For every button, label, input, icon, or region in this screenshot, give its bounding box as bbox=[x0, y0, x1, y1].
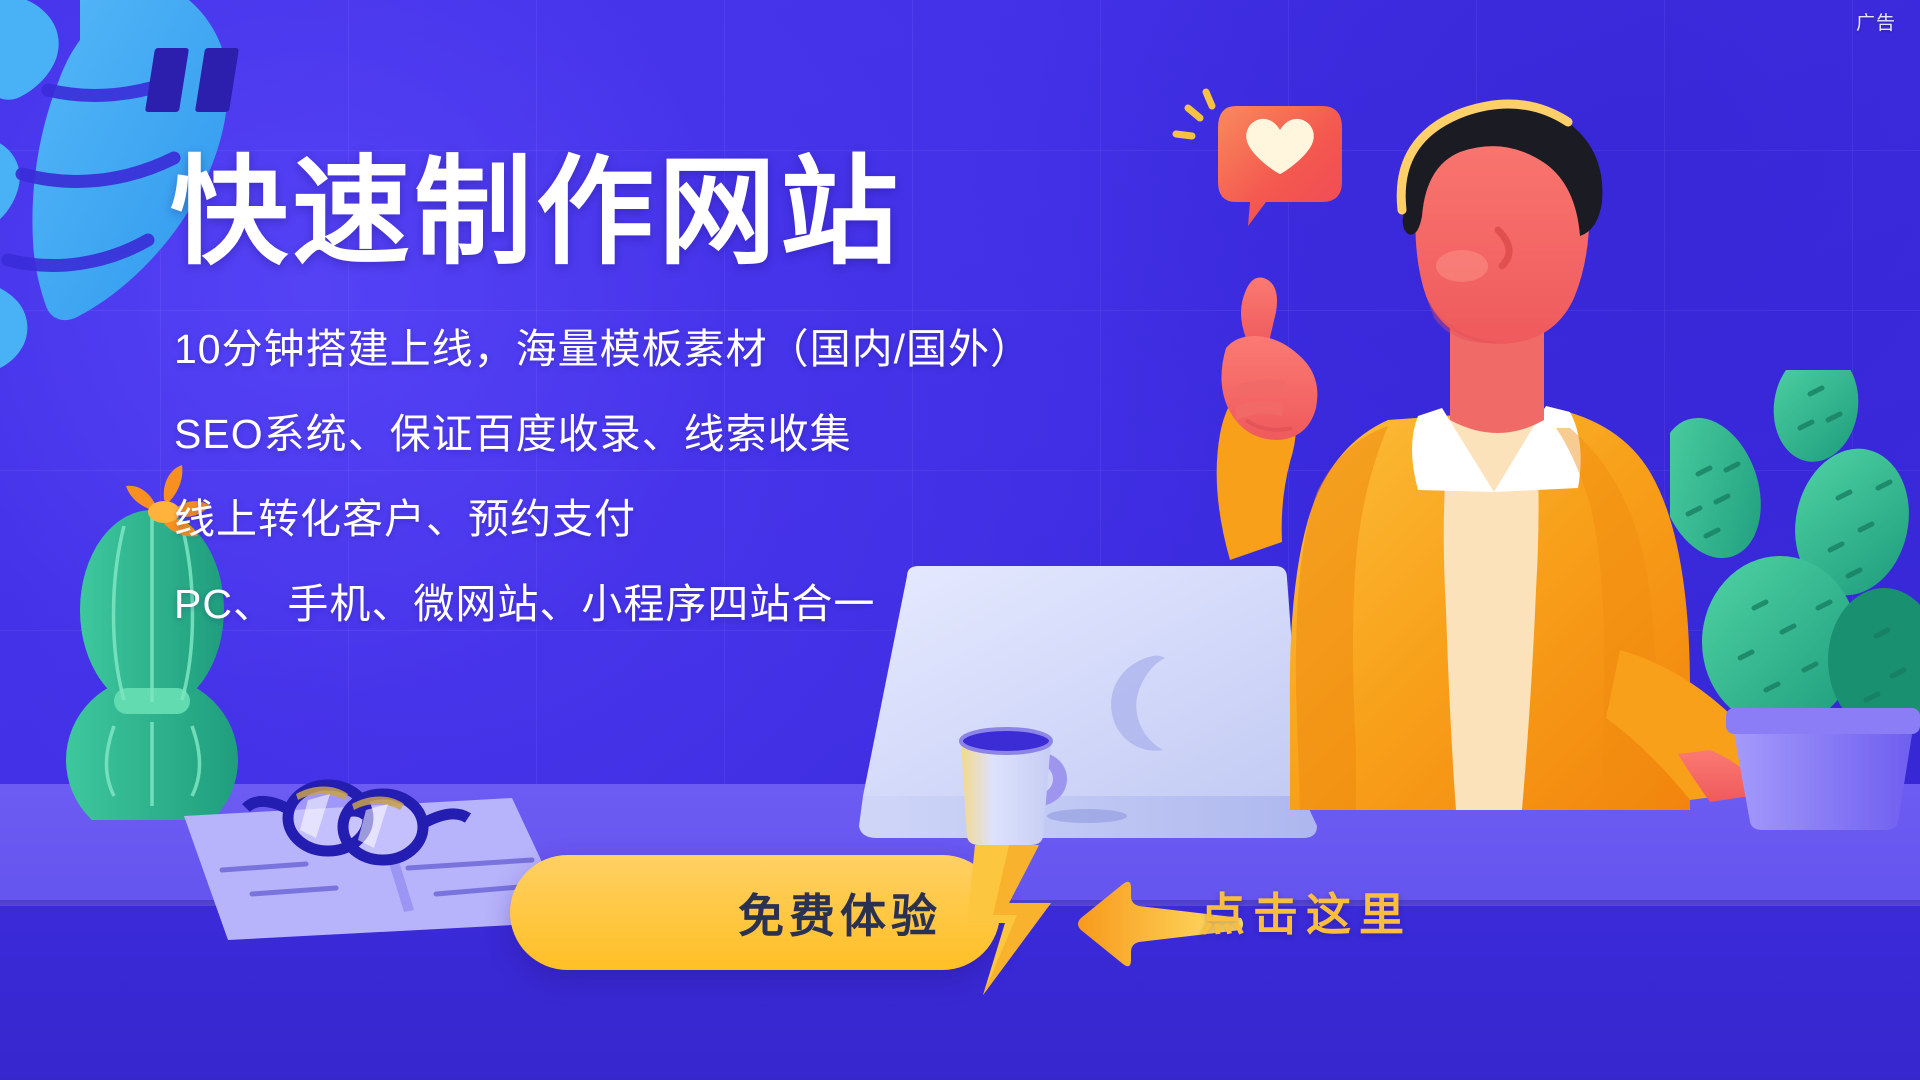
coffee-mug-icon bbox=[945, 715, 1080, 845]
ad-label: 广告 bbox=[1856, 8, 1896, 35]
pointer-label: 点击这里 bbox=[1200, 878, 1412, 943]
quote-mark-icon bbox=[150, 48, 246, 120]
free-trial-button-label: 免费体验 bbox=[568, 880, 942, 946]
free-trial-button[interactable]: 免费体验 bbox=[510, 855, 1000, 970]
copy-block: 快速制作网站 10分钟搭建上线，海量模板素材（国内/国外） SEO系统、保证百度… bbox=[170, 150, 1150, 625]
page-title: 快速制作网站 bbox=[170, 150, 1150, 277]
ad-banner: 广告 快速制作网站 10分钟搭建上线，海量模板素材（国内/国外） SEO系统、保… bbox=[0, 0, 1920, 1080]
lightning-bolt-icon bbox=[965, 845, 1075, 995]
list-item: 10分钟搭建上线，海量模板素材（国内/国外） bbox=[174, 329, 1150, 370]
list-item: PC、 手机、微网站、小程序四站合一 bbox=[174, 584, 1150, 625]
prickly-pear-cactus-icon bbox=[1670, 370, 1920, 830]
list-item: SEO系统、保证百度收录、线索收集 bbox=[174, 414, 1150, 455]
list-item: 线上转化客户、预约支付 bbox=[174, 499, 1150, 540]
document-paper-icon bbox=[140, 772, 570, 957]
feature-list: 10分钟搭建上线，海量模板素材（国内/国外） SEO系统、保证百度收录、线索收集… bbox=[174, 329, 1150, 625]
